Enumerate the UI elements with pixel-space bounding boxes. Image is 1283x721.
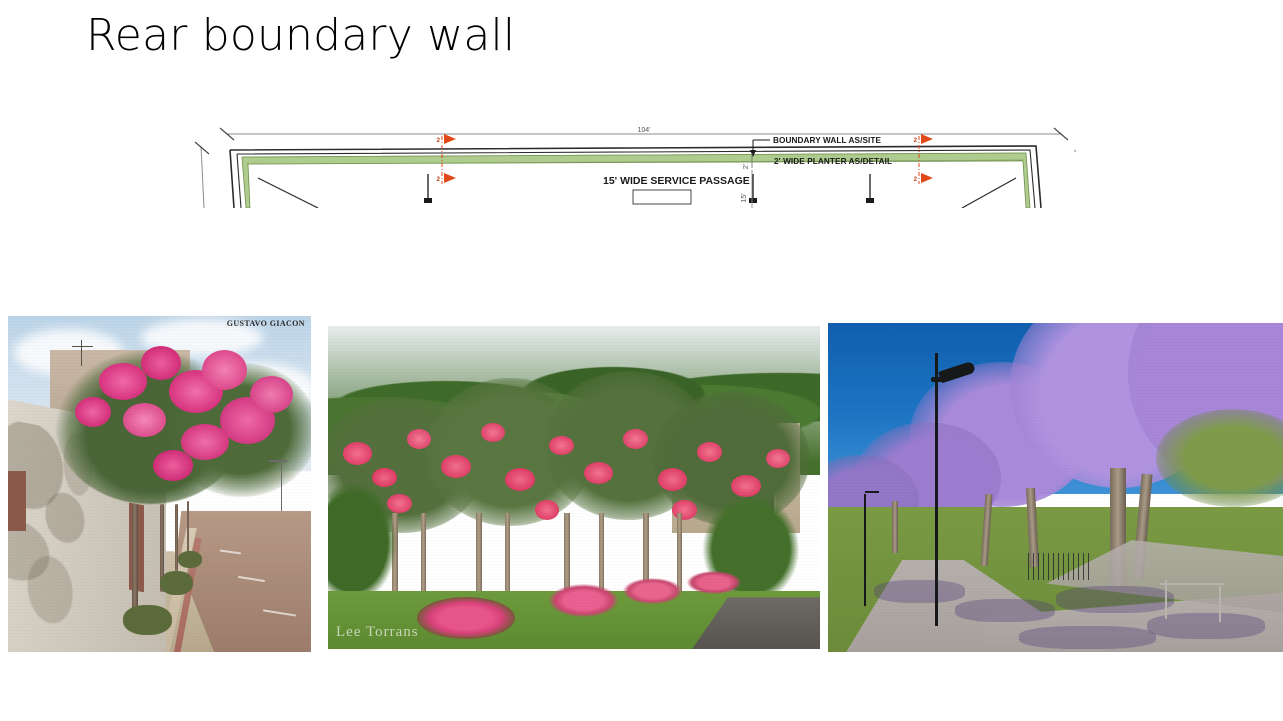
tree-base-planting <box>160 571 193 595</box>
antenna-cross <box>72 346 93 347</box>
blossom <box>549 436 574 455</box>
photo-watermark: GUSTAVO GIACON <box>227 319 305 328</box>
petal-shadow <box>1019 626 1156 649</box>
planter-label: 2' WIDE PLANTER AS/DETAIL <box>774 157 892 166</box>
blossom <box>343 442 373 465</box>
blossom-cluster <box>250 376 292 413</box>
tree-trunk <box>599 513 604 594</box>
tree-trunk <box>132 504 138 618</box>
blossom <box>407 429 432 448</box>
street-light-pole <box>281 464 283 511</box>
left-witness-line <box>195 142 209 208</box>
bollard <box>1165 580 1167 619</box>
tree-trunk <box>187 501 189 555</box>
blossom-cluster <box>202 350 247 390</box>
section-marker-number: 2 <box>437 177 441 183</box>
blossom-cluster <box>123 403 165 437</box>
planter-dimension-text: 2' <box>743 164 750 169</box>
tree-trunk <box>892 501 898 554</box>
street-lamp-pole <box>864 494 866 606</box>
flower-bed <box>623 578 682 604</box>
rail <box>1160 583 1224 585</box>
blossom <box>441 455 471 478</box>
tree-trunk <box>476 513 482 597</box>
blossom <box>505 468 535 491</box>
bicycle-rack <box>1028 553 1092 579</box>
overall-dimension-text: 104' <box>637 127 650 134</box>
blossom <box>672 500 697 519</box>
photo-crepe-myrtle-row: Lee Torrans <box>328 326 820 649</box>
petal-shadow <box>955 599 1055 622</box>
photo-watermark: Lee Torrans <box>336 624 419 641</box>
page-title: Rear boundary wall <box>86 10 515 61</box>
petal-shadow <box>874 580 965 603</box>
flower-bed <box>417 597 515 639</box>
blossom <box>535 500 560 519</box>
blossom-cluster <box>141 346 180 380</box>
section-marker-number: 2 <box>914 177 918 183</box>
tree-base-planting <box>123 605 171 635</box>
blossom <box>697 442 722 461</box>
street-lamp-pole[interactable] <box>935 353 938 626</box>
section-marker-number: 2 <box>437 138 441 144</box>
antenna <box>81 340 82 367</box>
brick-fence <box>8 471 26 531</box>
bollard <box>1219 586 1221 622</box>
blossom-cluster <box>75 397 111 427</box>
photo-pink-crepe-myrtle-street: GUSTAVO GIACON <box>8 316 311 652</box>
service-passage-dimension-text: 15' <box>741 193 748 202</box>
overall-dimension-line: 104' <box>220 127 1068 140</box>
site-plan-drawing: 104' <box>190 112 1080 208</box>
tree-trunk <box>677 513 682 591</box>
street-lamp-arm <box>865 491 879 493</box>
tree-base-planting <box>178 551 202 568</box>
boundary-wall-label: BOUNDARY WALL AS/SITE <box>773 136 882 145</box>
blossom <box>623 429 648 448</box>
service-passage-label: 15' WIDE SERVICE PASSAGE <box>603 175 750 187</box>
street-lamp-collar <box>931 377 943 381</box>
flower-bed <box>687 571 741 594</box>
section-marker-number: 2 <box>914 138 918 144</box>
blossom-cluster <box>99 363 147 400</box>
blossom-cluster <box>153 450 192 480</box>
photo-jacaranda-avenue <box>828 323 1283 652</box>
tree-trunk <box>505 513 510 597</box>
street-light-arm <box>269 460 287 462</box>
petal-shadow <box>1056 586 1174 612</box>
blossom <box>658 468 688 491</box>
service-passage-leader: 15' WIDE SERVICE PASSAGE 15' <box>603 170 752 208</box>
tree-trunk <box>421 513 426 597</box>
flower-bed <box>549 584 618 616</box>
stray-tick <box>1074 150 1076 152</box>
